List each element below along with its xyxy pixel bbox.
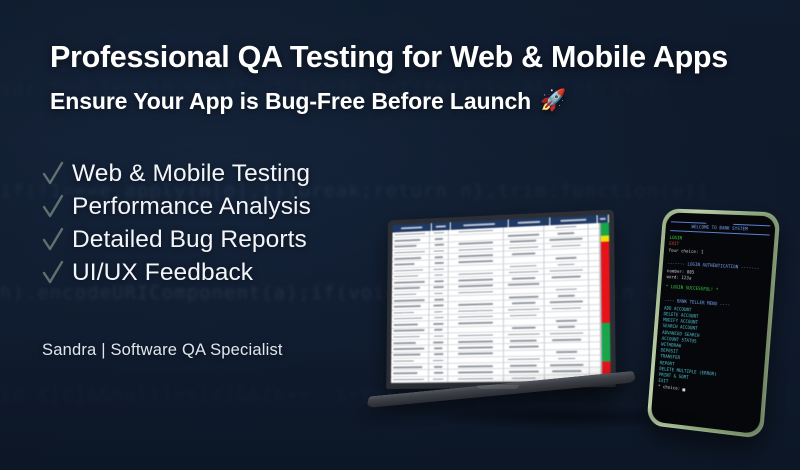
feature-label: UI/UX Feedback bbox=[72, 259, 253, 287]
qa-services-banner: var t=n.length,r=e?1:-1,i=e?0:t-1;for(;i… bbox=[0, 0, 800, 470]
author-byline: Sandra | Software QA Specialist bbox=[42, 341, 283, 360]
feature-list-item: UI/UX Feedback bbox=[42, 256, 311, 289]
feature-label: Web & Mobile Testing bbox=[72, 160, 310, 188]
check-icon bbox=[42, 259, 64, 287]
subtitle-text: Ensure Your App is Bug-Free Before Launc… bbox=[50, 88, 531, 115]
feature-list: Web & Mobile TestingPerformance Analysis… bbox=[42, 157, 311, 289]
feature-list-item: Performance Analysis bbox=[42, 190, 311, 223]
banner-text-column: Professional QA Testing for Web & Mobile… bbox=[0, 0, 770, 470]
check-icon bbox=[42, 226, 64, 254]
feature-list-item: Web & Mobile Testing bbox=[42, 157, 311, 190]
rocket-icon: 🚀 bbox=[540, 90, 566, 111]
page-subtitle: Ensure Your App is Bug-Free Before Launc… bbox=[50, 88, 750, 115]
check-icon bbox=[42, 193, 64, 221]
page-title: Professional QA Testing for Web & Mobile… bbox=[50, 40, 750, 75]
check-icon bbox=[42, 160, 64, 188]
feature-list-item: Detailed Bug Reports bbox=[42, 223, 311, 256]
feature-label: Detailed Bug Reports bbox=[72, 226, 307, 254]
feature-label: Performance Analysis bbox=[72, 193, 311, 221]
